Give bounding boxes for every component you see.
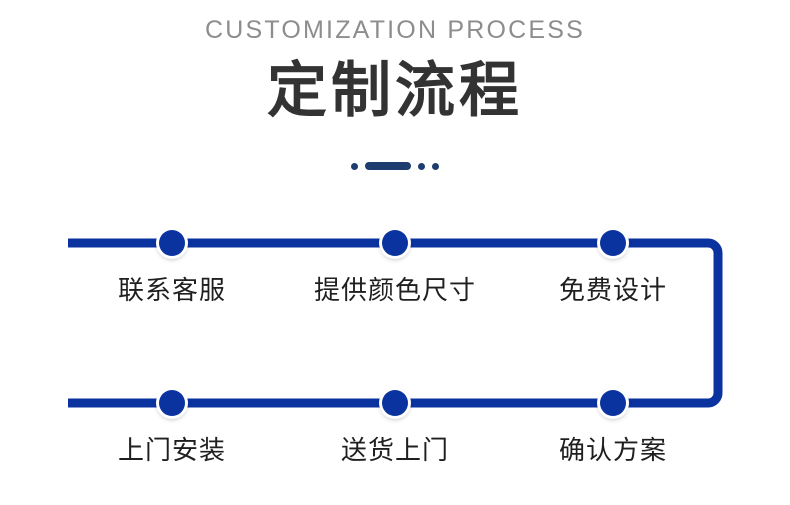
customization-process-banner: CUSTOMIZATION PROCESS 定制流程 联系客服提供颜色尺寸免费设… — [0, 0, 790, 505]
flow-label-5: 送货上门 — [275, 435, 515, 465]
flow-label-6: 上门安装 — [52, 435, 292, 465]
flow-label-2: 提供颜色尺寸 — [275, 275, 515, 305]
flow-label-3: 免费设计 — [493, 275, 733, 305]
flow-label-4: 确认方案 — [493, 435, 733, 465]
process-flow: 联系客服提供颜色尺寸免费设计确认方案送货上门上门安装 — [0, 0, 790, 505]
flow-node-4[interactable] — [600, 390, 626, 416]
flow-label-1: 联系客服 — [52, 275, 292, 305]
flow-node-5[interactable] — [382, 390, 408, 416]
flow-node-6[interactable] — [159, 390, 185, 416]
flow-node-3[interactable] — [600, 230, 626, 256]
flow-node-1[interactable] — [159, 230, 185, 256]
flow-node-2[interactable] — [382, 230, 408, 256]
